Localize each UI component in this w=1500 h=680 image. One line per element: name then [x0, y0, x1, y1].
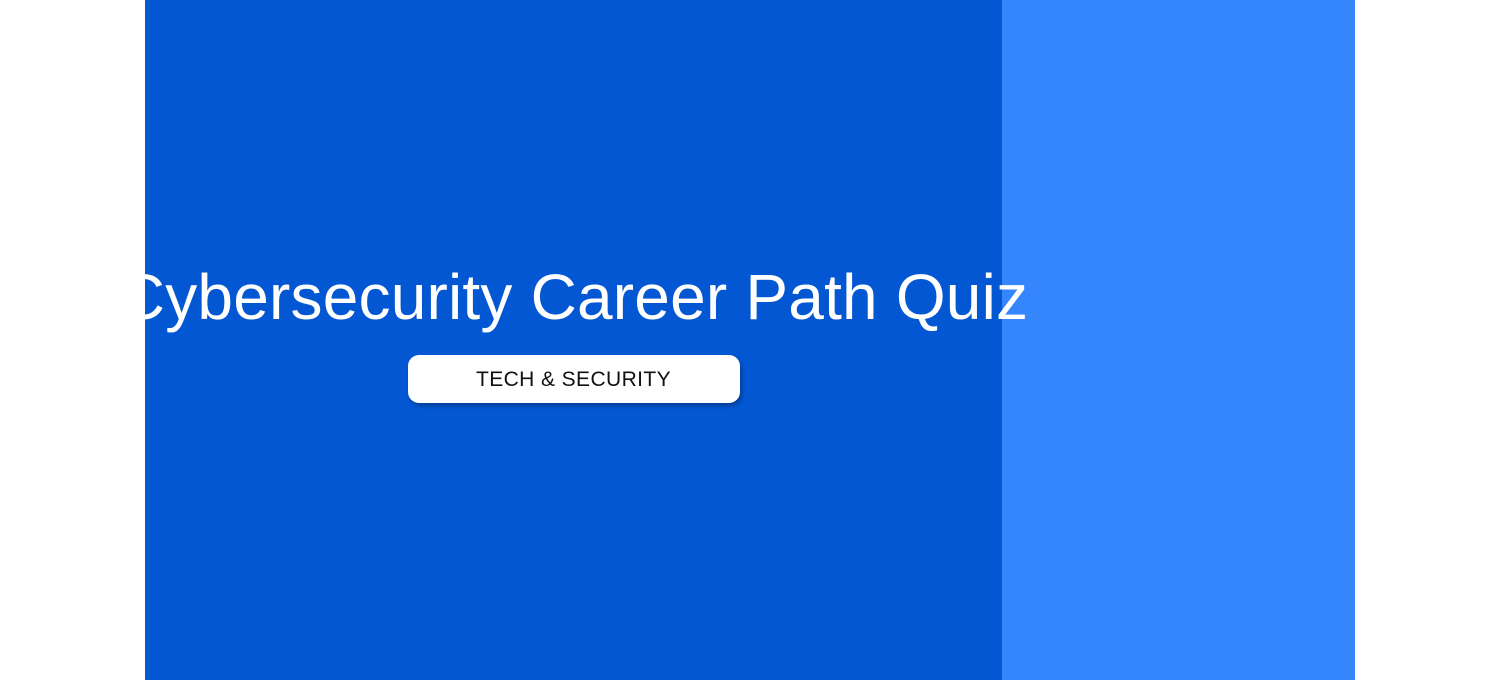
slide-canvas: Cybersecurity Career Path Quiz TECH & SE…: [0, 0, 1500, 680]
title-banner: Cybersecurity Career Path Quiz TECH & SE…: [145, 0, 1355, 680]
category-badge-button[interactable]: TECH & SECURITY: [408, 355, 740, 403]
page-title: Cybersecurity Career Path Quiz: [24, 259, 1124, 335]
category-badge-label: TECH & SECURITY: [476, 369, 671, 390]
accent-color-panel: [1002, 0, 1355, 680]
primary-color-panel: [145, 0, 1002, 680]
